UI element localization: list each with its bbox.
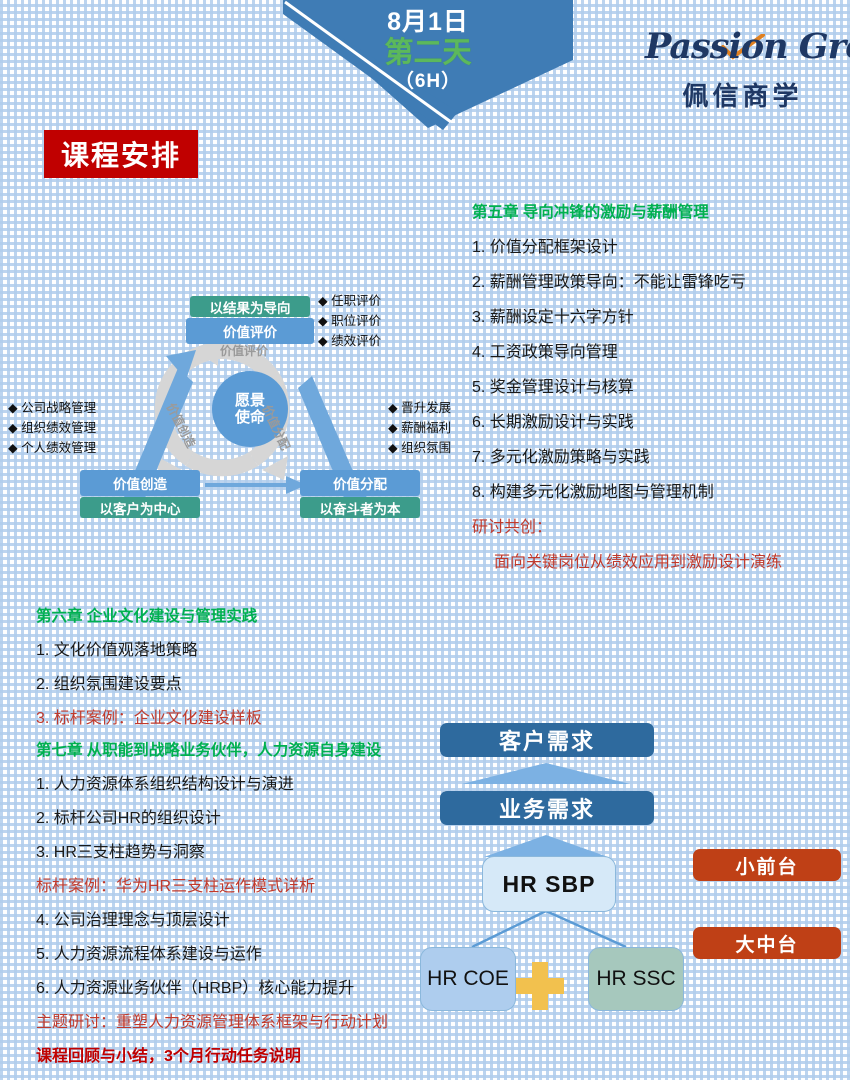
chapter6-item-2: 2. 组织氛围建设要点	[36, 670, 456, 694]
box-business-need: 业务需求	[440, 791, 654, 825]
box-strive-based: 以奋斗者为本	[300, 497, 420, 518]
box-customer-centric: 以客户为中心	[80, 497, 200, 518]
box-small-front-office: 小前台	[693, 849, 841, 881]
company-logo: Passion Group 佩信商学	[645, 24, 840, 120]
chapter7-item-2: 2. 标杆公司HR的组织设计	[36, 804, 456, 828]
box-value-creation: 价值创造	[80, 470, 200, 496]
box-value-distribution: 价值分配	[300, 470, 420, 496]
chapter6-case: 3. 标杆案例：企业文化建设样板	[36, 704, 456, 728]
chapter5-block: 第五章 导向冲锋的激励与薪酬管理 1. 价值分配框架设计 2. 薪酬管理政策导向…	[472, 200, 850, 583]
bullets-top-right: ◆ 任职评价 ◆ 职位评价 ◆ 绩效评价	[318, 291, 381, 351]
bullet-company-strategy: ◆ 公司战略管理	[8, 398, 96, 418]
box-customer-need: 客户需求	[440, 723, 654, 757]
page-title-text: 课程安排	[61, 134, 181, 174]
chapter7-seminar: 主题研讨：重塑人力资源管理体系框架与行动计划	[36, 1008, 456, 1032]
chapter7-block: 第七章 从职能到战略业务伙伴，人力资源自身建设 1. 人力资源体系组织结构设计与…	[36, 738, 456, 1076]
box-hr-sbp: HR SBP	[482, 856, 616, 912]
page-title: 课程安排	[44, 130, 198, 178]
bullet-position-eval: ◆ 职位评价	[318, 311, 381, 331]
chapter7-heading: 第七章 从职能到战略业务伙伴，人力资源自身建设	[36, 738, 456, 760]
chapter5-workshop-text: 面向关键岗位从绩效应用到激励设计演练	[472, 548, 850, 572]
banner-date: 8月1日	[387, 8, 469, 37]
box-result-oriented: 以结果为导向	[190, 296, 310, 317]
day-banner: 8月1日 第二天 （6H）	[283, 0, 573, 130]
chapter6-item-1: 1. 文化价值观落地策略	[36, 636, 456, 660]
chapter7-item-4: 4. 公司治理理念与顶层设计	[36, 906, 456, 930]
box-hr-ssc: HR SSC	[588, 947, 684, 1011]
chapter5-heading: 第五章 导向冲锋的激励与薪酬管理	[472, 200, 850, 222]
chapter5-item-8: 8. 构建多元化激励地图与管理机制	[472, 478, 850, 502]
value-cycle-diagram: 愿景 使命 价值评价 价值创造 价值分配 以结果为导向 价值评价 价值创造 以客…	[0, 280, 445, 540]
ring-label-top: 价值评价	[220, 342, 268, 359]
chapter5-item-6: 6. 长期激励设计与实践	[472, 408, 850, 432]
chapter7-item-3: 3. HR三支柱趋势与洞察	[36, 838, 456, 862]
banner-day: 第二天	[384, 37, 471, 70]
chapter7-item-5: 5. 人力资源流程体系建设与运作	[36, 940, 456, 964]
banner-hours: （6H）	[395, 70, 461, 95]
chapter5-item-7: 7. 多元化激励策略与实践	[472, 443, 850, 467]
chapter5-item-1: 1. 价值分配框架设计	[472, 233, 850, 257]
chapter7-case: 标杆案例：华为HR三支柱运作模式详析	[36, 872, 456, 896]
chapter5-item-5: 5. 奖金管理设计与核算	[472, 373, 850, 397]
chapter7-item-6: 6. 人力资源业务伙伴（HRBP）核心能力提升	[36, 974, 456, 998]
slide-canvas: 8月1日 第二天 （6H） Passion Group 佩信商学 课程安排 第五…	[0, 0, 850, 1080]
bullet-org-climate: ◆ 组织氛围	[388, 438, 451, 458]
chapter5-item-4: 4. 工资政策导向管理	[472, 338, 850, 362]
chapter7-closing: 课程回顾与小结，3个月行动任务说明	[36, 1042, 456, 1066]
box-big-middle-office: 大中台	[693, 927, 841, 959]
core-line-1: 愿景	[235, 392, 265, 409]
bullet-appointment-eval: ◆ 任职评价	[318, 291, 381, 311]
hr-three-pillar-diagram: 客户需求 业务需求 HR SBP HR COE HR SSC 小前台 大中台	[410, 715, 850, 1055]
bullets-left: ◆ 公司战略管理 ◆ 组织绩效管理 ◆ 个人绩效管理	[8, 398, 96, 458]
bullet-compensation: ◆ 薪酬福利	[388, 418, 451, 438]
chapter5-item-3: 3. 薪酬设定十六字方针	[472, 303, 850, 327]
box-value-evaluation: 价值评价	[186, 318, 314, 344]
bullet-individual-performance: ◆ 个人绩效管理	[8, 438, 96, 458]
logo-chinese-text: 佩信商学	[645, 76, 840, 113]
bullets-right: ◆ 晋升发展 ◆ 薪酬福利 ◆ 组织氛围	[388, 398, 451, 458]
bullet-promotion: ◆ 晋升发展	[388, 398, 451, 418]
chapter7-item-1: 1. 人力资源体系组织结构设计与演进	[36, 770, 456, 794]
chapter6-block: 第六章 企业文化建设与管理实践 1. 文化价值观落地策略 2. 组织氛围建设要点…	[36, 604, 456, 738]
bullet-performance-eval: ◆ 绩效评价	[318, 331, 381, 351]
logo-script-text: Passion Group	[645, 26, 840, 67]
bullet-org-performance: ◆ 组织绩效管理	[8, 418, 96, 438]
box-hr-coe: HR COE	[420, 947, 516, 1011]
chapter5-workshop-label: 研讨共创：	[472, 513, 850, 537]
chapter5-item-2: 2. 薪酬管理政策导向：不能让雷锋吃亏	[472, 268, 850, 292]
chapter6-heading: 第六章 企业文化建设与管理实践	[36, 604, 456, 626]
